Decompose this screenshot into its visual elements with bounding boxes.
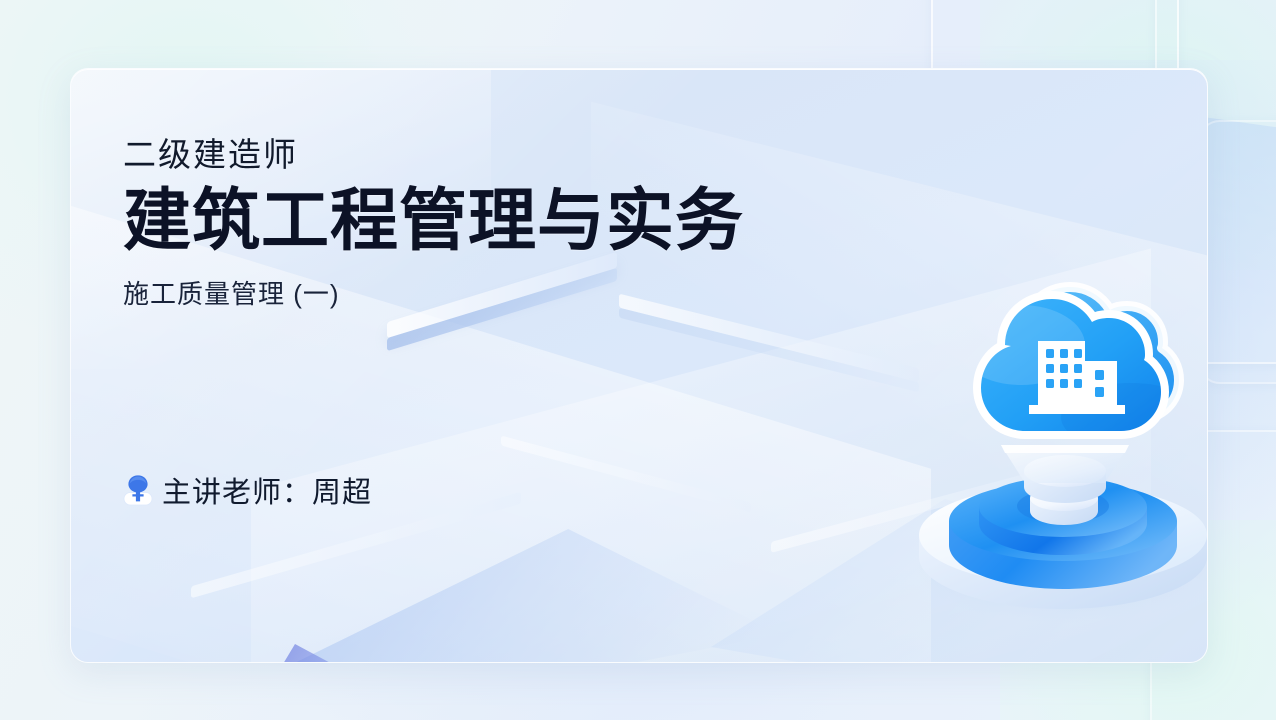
iso-wedge-bottom-left: [221, 529, 781, 663]
iso-slab-2-side: [619, 308, 919, 393]
cloud-building-3d-illustration: [893, 249, 1208, 629]
presenter-avatar-icon: [123, 474, 153, 506]
title-block: 二级建造师 建筑工程管理与实务 施工质量管理 (一): [123, 137, 883, 310]
iso-wedge-right: [711, 499, 1208, 663]
page-title: 建筑工程管理与实务: [123, 185, 883, 258]
course-cover-card: 二级建造师 建筑工程管理与实务 施工质量管理 (一) 主讲老师：周超: [70, 68, 1208, 663]
presenter-label: 主讲老师：周超: [162, 469, 372, 511]
presenter-row: 主讲老师：周超: [123, 469, 372, 511]
ghost-rect-4: [1198, 120, 1276, 384]
course-eyebrow: 二级建造师: [123, 137, 883, 173]
course-subtitle: 施工质量管理 (一): [123, 279, 883, 310]
building-icon: [1029, 341, 1125, 414]
iso-slab-5: [771, 456, 1091, 553]
iso-wedge-accent: [259, 644, 379, 663]
iso-plane-b: [251, 248, 1151, 663]
iso-slab-4: [501, 436, 751, 513]
slide-canvas: 二级建造师 建筑工程管理与实务 施工质量管理 (一) 主讲老师：周超: [0, 0, 1276, 720]
